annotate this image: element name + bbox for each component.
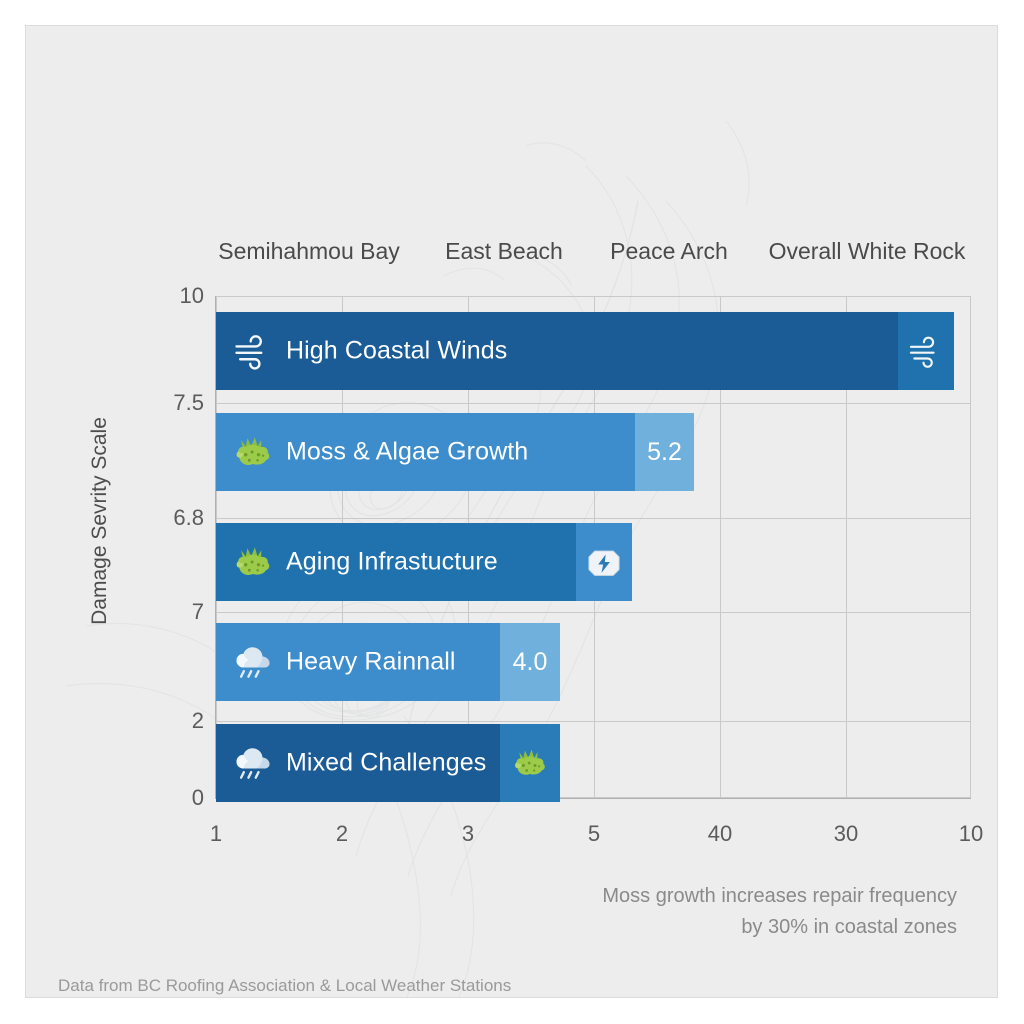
bar-value-label: 5.2 xyxy=(647,438,682,467)
wind-icon xyxy=(230,328,276,374)
bar-label: Moss & Algae Growth xyxy=(286,438,528,467)
bar-heavy-rainfall[interactable]: 4.0 Heavy Rainnall xyxy=(216,623,560,701)
bar-tail-segment: 4.0 xyxy=(500,623,560,701)
x-tick-10: 10 xyxy=(959,821,983,847)
bar-aging-infrastructure[interactable]: Aging Infrastucture xyxy=(216,523,632,601)
gridline-vertical xyxy=(970,296,971,798)
column-header-east-beach: East Beach xyxy=(445,238,563,265)
rain-cloud-icon xyxy=(230,740,276,786)
y-tick-7: 7 xyxy=(192,599,204,625)
bar-label: Mixed Challenges xyxy=(286,749,486,778)
y-tick-6_8: 6.8 xyxy=(173,505,204,531)
bar-label: High Coastal Winds xyxy=(286,337,507,366)
plot-area: High Coastal Winds 5.2 xyxy=(216,296,971,798)
annotation-line-2: by 30% in coastal zones xyxy=(602,912,957,943)
bar-label: Heavy Rainnall xyxy=(286,648,456,677)
storm-icon xyxy=(583,541,625,583)
y-tick-10: 10 xyxy=(180,283,204,309)
x-tick-30: 30 xyxy=(834,821,858,847)
gridline-horizontal xyxy=(216,612,971,613)
bar-value-label: 4.0 xyxy=(513,648,548,677)
bar-label: Aging Infrastucture xyxy=(286,548,498,577)
column-headers: Semihahmou Bay East Beach Peace Arch Ove… xyxy=(216,238,998,276)
bar-tail-segment: 5.2 xyxy=(635,413,694,491)
gridline-horizontal xyxy=(216,296,971,297)
bar-tail-segment xyxy=(576,523,632,601)
bar-tail-segment xyxy=(898,312,954,390)
x-axis-tick-labels: 1 2 3 5 40 30 10 xyxy=(216,821,971,853)
x-tick-3: 3 xyxy=(462,821,474,847)
chart-footnote: Data from BC Roofing Association & Local… xyxy=(58,976,511,996)
y-tick-7_5: 7.5 xyxy=(173,390,204,416)
moss-icon xyxy=(230,539,276,585)
x-tick-1: 1 xyxy=(210,821,222,847)
y-axis-tick-labels: 10 7.5 6.8 7 2 0 xyxy=(136,296,204,798)
chart-card: Semihahmou Bay East Beach Peace Arch Ove… xyxy=(25,25,998,998)
rain-cloud-icon xyxy=(230,639,276,685)
y-tick-0: 0 xyxy=(192,785,204,811)
y-axis-title: Damage Sevrity Scale xyxy=(84,396,116,646)
bar-tail-segment xyxy=(500,724,560,802)
bar-mixed-challenges[interactable]: Mixed Challenges xyxy=(216,724,560,802)
y-tick-2: 2 xyxy=(192,708,204,734)
column-header-peace-arch: Peace Arch xyxy=(610,238,728,265)
bar-moss-algae-growth[interactable]: 5.2 Moss & Algae Growth xyxy=(216,413,694,491)
column-header-semihahmou-bay: Semihahmou Bay xyxy=(218,238,400,265)
x-tick-5: 5 xyxy=(588,821,600,847)
column-header-overall-white-rock: Overall White Rock xyxy=(769,238,966,265)
moss-icon xyxy=(509,742,551,784)
gridline-horizontal xyxy=(216,518,971,519)
x-tick-2: 2 xyxy=(336,821,348,847)
gridline-horizontal xyxy=(216,721,971,722)
y-axis-title-text: Damage Sevrity Scale xyxy=(88,417,112,625)
bar-high-coastal-winds[interactable]: High Coastal Winds xyxy=(216,312,954,390)
gridline-horizontal xyxy=(216,403,971,404)
chart-annotation: Moss growth increases repair frequency b… xyxy=(602,881,957,943)
annotation-line-1: Moss growth increases repair frequency xyxy=(602,881,957,912)
wind-icon xyxy=(905,330,947,372)
x-tick-40: 40 xyxy=(708,821,732,847)
moss-icon xyxy=(230,429,276,475)
chart-figure: Semihahmou Bay East Beach Peace Arch Ove… xyxy=(0,0,1024,1024)
